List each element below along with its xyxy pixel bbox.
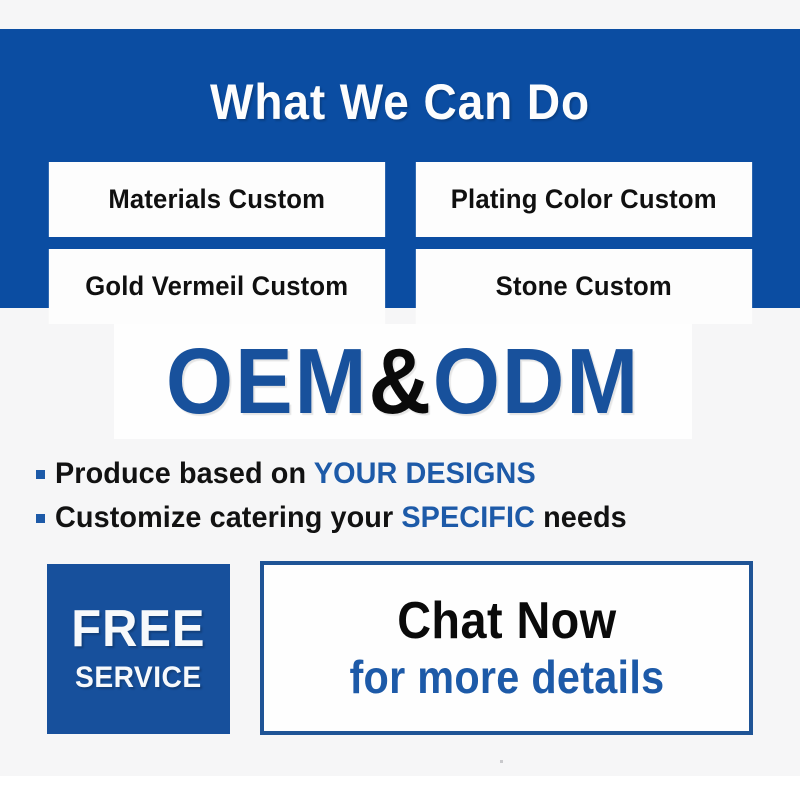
- list-item: Customize catering your SPECIFIC needs: [36, 496, 776, 540]
- benefit-text-plain: Customize catering your: [55, 501, 401, 534]
- capability-card-stone[interactable]: Stone Custom: [415, 249, 751, 324]
- capability-card-plating-color[interactable]: Plating Color Custom: [415, 162, 751, 237]
- page-title: What We Can Do: [32, 74, 768, 130]
- promo-banner: What We Can Do Materials Custom Plating …: [0, 0, 800, 800]
- capability-card-label: Gold Vermeil Custom: [85, 271, 348, 302]
- oem-odm-banner: OEM&ODM: [114, 324, 692, 439]
- odm-label: ODM: [433, 329, 640, 433]
- benefit-text: Produce based on YOUR DESIGNS: [55, 457, 536, 491]
- benefit-text-highlight: SPECIFIC: [401, 501, 535, 534]
- benefit-text-suffix: needs: [535, 501, 627, 534]
- square-bullet-icon: [36, 514, 45, 523]
- ampersand-glyph: &: [368, 329, 432, 433]
- benefit-text-highlight: YOUR DESIGNS: [314, 457, 536, 490]
- capability-card-gold-vermeil[interactable]: Gold Vermeil Custom: [49, 249, 385, 324]
- benefit-text: Customize catering your SPECIFIC needs: [55, 501, 627, 535]
- square-bullet-icon: [36, 470, 45, 479]
- chat-now-button[interactable]: Chat Now for more details: [260, 561, 753, 735]
- list-item: Produce based on YOUR DESIGNS: [36, 452, 776, 496]
- capability-card-label: Stone Custom: [495, 271, 671, 302]
- capability-card-label: Materials Custom: [108, 184, 325, 215]
- oem-odm-heading: OEM&ODM: [166, 334, 640, 429]
- capability-card-materials[interactable]: Materials Custom: [49, 162, 385, 237]
- capability-card-label: Plating Color Custom: [450, 184, 716, 215]
- chat-now-subtitle: for more details: [349, 651, 664, 703]
- benefit-text-plain: Produce based on: [55, 457, 314, 490]
- chat-now-title: Chat Now: [397, 593, 616, 649]
- free-service-line1: FREE: [71, 603, 205, 655]
- free-service-line2: SERVICE: [75, 661, 202, 695]
- benefits-list: Produce based on YOUR DESIGNS Customize …: [36, 452, 776, 540]
- capabilities-section: What We Can Do Materials Custom Plating …: [0, 29, 800, 308]
- free-service-badge: FREE SERVICE: [47, 564, 230, 734]
- oem-label: OEM: [166, 329, 369, 433]
- background-speck: [500, 760, 503, 763]
- capability-card-grid: Materials Custom Plating Color Custom Go…: [40, 162, 760, 324]
